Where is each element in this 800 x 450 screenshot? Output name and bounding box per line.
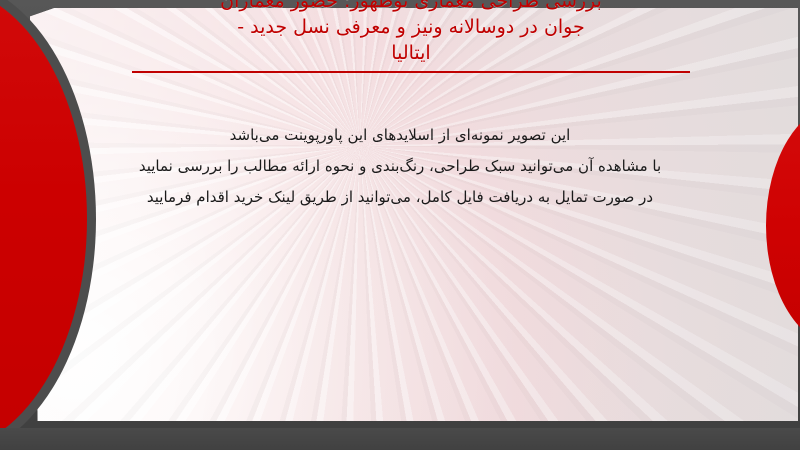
slide-title-line-3: ایتالیا <box>132 40 690 66</box>
slide-body-line-2: با مشاهده آن می‌توانید سبک طراحی، رنگ‌بن… <box>100 151 700 182</box>
slide-title-line-1: بررسی طراحی معماری نوظهور: حضور معماران <box>132 0 690 14</box>
slide-title-line-2: جوان در دوسالانه ونیز و معرفی نسل جدید - <box>132 14 690 40</box>
slide-body-text: این تصویر نمونه‌ای از اسلایدهای این پاور… <box>100 120 700 213</box>
slide-body-line-1: این تصویر نمونه‌ای از اسلایدهای این پاور… <box>100 120 700 151</box>
bottom-dark-band <box>0 428 800 450</box>
presentation-slide: بررسی طراحی معماری نوظهور: حضور معماران … <box>0 0 800 450</box>
slide-body-line-3: در صورت تمایل به دریافت فایل کامل، می‌تو… <box>100 182 700 213</box>
slide-title: بررسی طراحی معماری نوظهور: حضور معماران … <box>132 0 690 66</box>
title-underline-rule <box>132 71 690 73</box>
